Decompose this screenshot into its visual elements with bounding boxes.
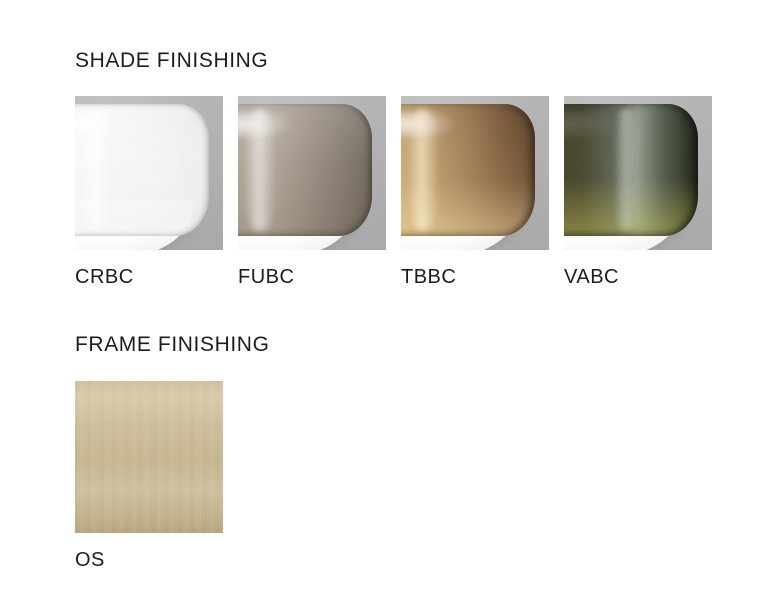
glass-body (564, 104, 698, 236)
shade-image-tbbc (401, 96, 549, 250)
glass-body (238, 104, 372, 236)
swatch-label-fubc: FUBC (238, 265, 386, 289)
swatch-label-crbc: CRBC (75, 265, 223, 289)
swatch-label-tbbc: TBBC (401, 265, 549, 289)
brushed-brass-texture (75, 381, 223, 533)
shade-swatch-fubc[interactable] (238, 96, 386, 250)
shade-image-crbc (75, 96, 223, 250)
shade-swatch-crbc[interactable] (75, 96, 223, 250)
swatch-cell-crbc[interactable]: CRBC (75, 96, 223, 289)
glass-body (401, 104, 535, 236)
shade-swatch-row: CRBC FUBC (75, 96, 712, 289)
swatch-cell-fubc[interactable]: FUBC (238, 96, 386, 289)
frame-finishing-heading: FRAME FINISHING (75, 333, 270, 357)
frame-swatch-os[interactable] (75, 381, 223, 533)
swatch-cell-os[interactable]: OS (75, 381, 223, 572)
shade-swatch-vabc[interactable] (564, 96, 712, 250)
swatch-label-vabc: VABC (564, 265, 712, 289)
shade-swatch-tbbc[interactable] (401, 96, 549, 250)
shade-image-vabc (564, 96, 712, 250)
shade-image-fubc (238, 96, 386, 250)
swatch-cell-vabc[interactable]: VABC (564, 96, 712, 289)
swatch-cell-tbbc[interactable]: TBBC (401, 96, 549, 289)
swatch-label-os: OS (75, 548, 223, 572)
frame-swatch-row: OS (75, 381, 223, 572)
finishing-options-page: SHADE FINISHING CRBC (0, 0, 780, 600)
shade-finishing-heading: SHADE FINISHING (75, 49, 268, 73)
glass-body (75, 104, 209, 236)
